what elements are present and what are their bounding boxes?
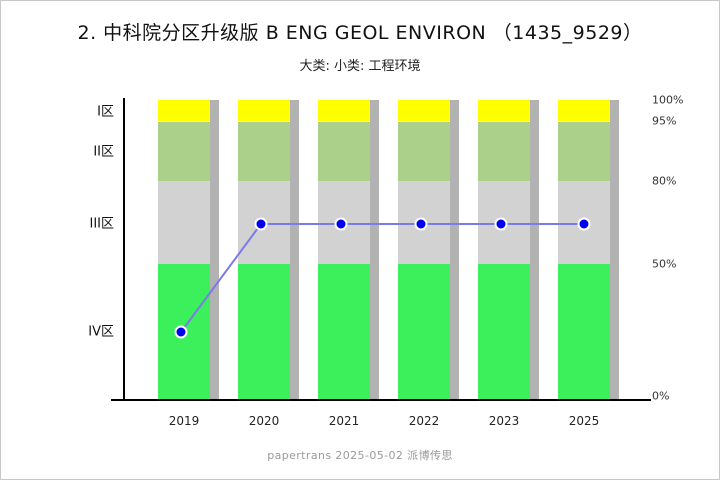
bar-segment [238, 122, 290, 181]
stacked-bar[interactable] [398, 100, 450, 399]
bar-segment [318, 181, 370, 264]
bar-segment [318, 100, 370, 121]
percent-tick: 80% [652, 175, 676, 188]
bar-shadow [450, 100, 459, 399]
x-tick-2019: 2019 [169, 414, 200, 428]
bar-segment [478, 100, 530, 121]
percent-tick: 50% [652, 258, 676, 271]
bar-segment [238, 100, 290, 121]
bar-segment [398, 122, 450, 181]
y-axis-line [123, 98, 125, 400]
stacked-bar[interactable] [558, 100, 610, 399]
zone-label-3: III区 [89, 213, 114, 232]
bar-segment [558, 100, 610, 121]
bar-segment [478, 181, 530, 264]
stacked-bar[interactable] [158, 100, 210, 399]
x-tick-2025: 2025 [569, 414, 600, 428]
bar-segment [158, 100, 210, 121]
stacked-bar[interactable] [478, 100, 530, 399]
bar-shadow [610, 100, 619, 399]
bar-segment [558, 181, 610, 264]
zone-label-1: I区 [97, 101, 114, 120]
footer-credit: papertrans 2025-05-02 派博传思 [0, 447, 720, 463]
x-tick-2022: 2022 [409, 414, 440, 428]
zone-label-4: IV区 [88, 321, 114, 340]
stacked-bar[interactable] [238, 100, 290, 399]
percent-tick: 0% [652, 390, 669, 403]
x-tick-2023: 2023 [489, 414, 520, 428]
bar-segment [558, 264, 610, 399]
zone-label-axis: I区II区III区IV区 [0, 0, 114, 480]
bar-segment [478, 264, 530, 399]
bar-segment [238, 264, 290, 399]
bar-segment [158, 122, 210, 181]
bar-segment [318, 264, 370, 399]
bar-segment [558, 122, 610, 181]
bar-segment [318, 122, 370, 181]
percent-tick: 95% [652, 115, 676, 128]
percent-tick: 100% [652, 94, 683, 107]
bar-shadow [370, 100, 379, 399]
bar-segment [398, 181, 450, 264]
bar-segment [398, 100, 450, 121]
bar-segment [238, 181, 290, 264]
zone-label-2: II区 [93, 141, 114, 160]
bar-segment [478, 122, 530, 181]
x-axis-line [111, 399, 651, 401]
stacked-bar[interactable] [318, 100, 370, 399]
bar-shadow [210, 100, 219, 399]
bar-shadow [530, 100, 539, 399]
x-tick-2021: 2021 [329, 414, 360, 428]
x-tick-2020: 2020 [249, 414, 280, 428]
bar-segment [158, 264, 210, 399]
bar-segment [398, 264, 450, 399]
bar-segment [158, 181, 210, 264]
bar-shadow [290, 100, 299, 399]
